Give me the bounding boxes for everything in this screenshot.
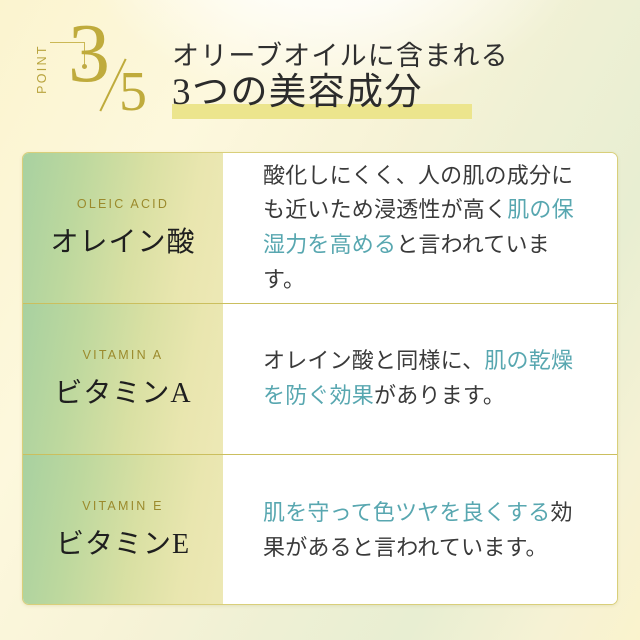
- ingredient-name-panel: VITAMIN E ビタミンE: [23, 455, 223, 605]
- ingredient-description-panel: オレイン酸と同様に、肌の乾燥を防ぐ効果があります。: [223, 304, 617, 454]
- ingredient-description: 酸化しにくく、人の肌の成分にも近いため浸透性が高く肌の保湿力を高めると言われてい…: [263, 159, 591, 298]
- description-part1: オレイン酸と同様に、: [263, 348, 484, 373]
- page-title: 3つの美容成分: [172, 73, 423, 113]
- table-row: OLEIC ACID オレイン酸 酸化しにくく、人の肌の成分にも近いため浸透性が…: [23, 153, 617, 304]
- description-part2: があります。: [374, 383, 505, 408]
- description-accent: 肌を守って色ツヤを良くする: [263, 500, 551, 525]
- point-badge: POINT 3 5: [22, 18, 162, 136]
- ingredient-description: 肌を守って色ツヤを良くする効果があると言われています。: [263, 496, 591, 566]
- ingredient-name-panel: OLEIC ACID オレイン酸: [23, 153, 223, 303]
- point-denominator: 5: [119, 64, 147, 120]
- ingredient-description-panel: 酸化しにくく、人の肌の成分にも近いため浸透性が高く肌の保湿力を高めると言われてい…: [223, 153, 617, 303]
- ingredients-card: OLEIC ACID オレイン酸 酸化しにくく、人の肌の成分にも近いため浸透性が…: [22, 152, 618, 605]
- ingredient-label-en: VITAMIN A: [83, 348, 164, 362]
- table-row: VITAMIN A ビタミンA オレイン酸と同様に、肌の乾燥を防ぐ効果があります…: [23, 304, 617, 455]
- ingredient-label-ja: オレイン酸: [50, 220, 195, 260]
- ingredient-name-panel: VITAMIN A ビタミンA: [23, 304, 223, 454]
- infographic-page: POINT 3 5 オリーブオイルに含まれる 3つの美容成分 OLEIC ACI…: [0, 0, 640, 640]
- ingredient-description-panel: 肌を守って色ツヤを良くする効果があると言われています。: [223, 455, 617, 605]
- table-row: VITAMIN E ビタミンE 肌を守って色ツヤを良くする効果があると言われてい…: [23, 455, 617, 605]
- point-label: POINT: [35, 31, 49, 107]
- ingredient-label-en: OLEIC ACID: [77, 197, 169, 211]
- ingredient-description: オレイン酸と同様に、肌の乾燥を防ぐ効果があります。: [263, 344, 591, 414]
- ingredient-label-ja: ビタミンA: [54, 371, 191, 411]
- page-subtitle: オリーブオイルに含まれる: [172, 34, 509, 73]
- ingredient-label-ja: ビタミンE: [56, 522, 190, 562]
- point-numerator: 3: [68, 12, 110, 96]
- page-title-wrap: 3つの美容成分: [172, 73, 423, 121]
- header: POINT 3 5 オリーブオイルに含まれる 3つの美容成分: [0, 0, 640, 150]
- ingredient-label-en: VITAMIN E: [82, 499, 163, 513]
